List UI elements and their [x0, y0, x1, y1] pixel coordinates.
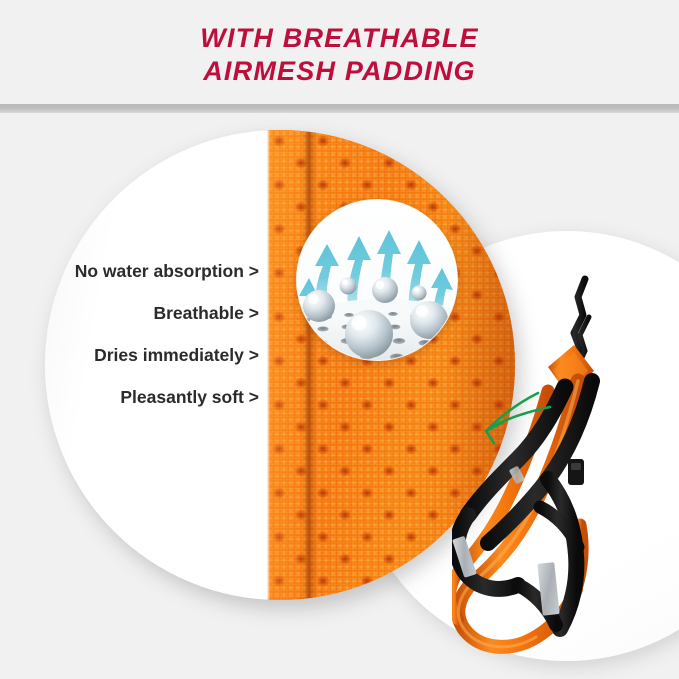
- chevron-right-icon: >: [249, 345, 259, 365]
- feature-label: Breathable: [153, 303, 243, 323]
- list-item[interactable]: Pleasantly soft >: [63, 386, 259, 408]
- infographic-root: WITH BREATHABLE AIRMESH PADDING No water…: [0, 0, 679, 679]
- page-title: WITH BREATHABLE AIRMESH PADDING: [0, 22, 679, 88]
- header-banner: WITH BREATHABLE AIRMESH PADDING: [0, 0, 679, 104]
- content-canvas: No water absorption > Breathable > Dries…: [0, 113, 679, 679]
- feature-list: No water absorption > Breathable > Dries…: [63, 260, 259, 408]
- feature-label: No water absorption: [75, 261, 244, 281]
- feature-label: Dries immediately: [94, 345, 244, 365]
- chevron-right-icon: >: [249, 261, 259, 281]
- list-item[interactable]: No water absorption >: [63, 260, 259, 282]
- chevron-right-icon: >: [249, 387, 259, 407]
- airflow-illustration: [297, 200, 457, 360]
- feature-label: Pleasantly soft: [120, 387, 244, 407]
- airflow-inset-circle: [297, 200, 457, 360]
- chevron-right-icon: >: [249, 303, 259, 323]
- panel-split-edge: [267, 130, 270, 600]
- header-divider: [0, 104, 679, 113]
- list-item[interactable]: Breathable >: [63, 302, 259, 324]
- product-image-harness: [452, 263, 679, 679]
- list-item[interactable]: Dries immediately >: [63, 344, 259, 366]
- harness-buckle: [568, 459, 584, 485]
